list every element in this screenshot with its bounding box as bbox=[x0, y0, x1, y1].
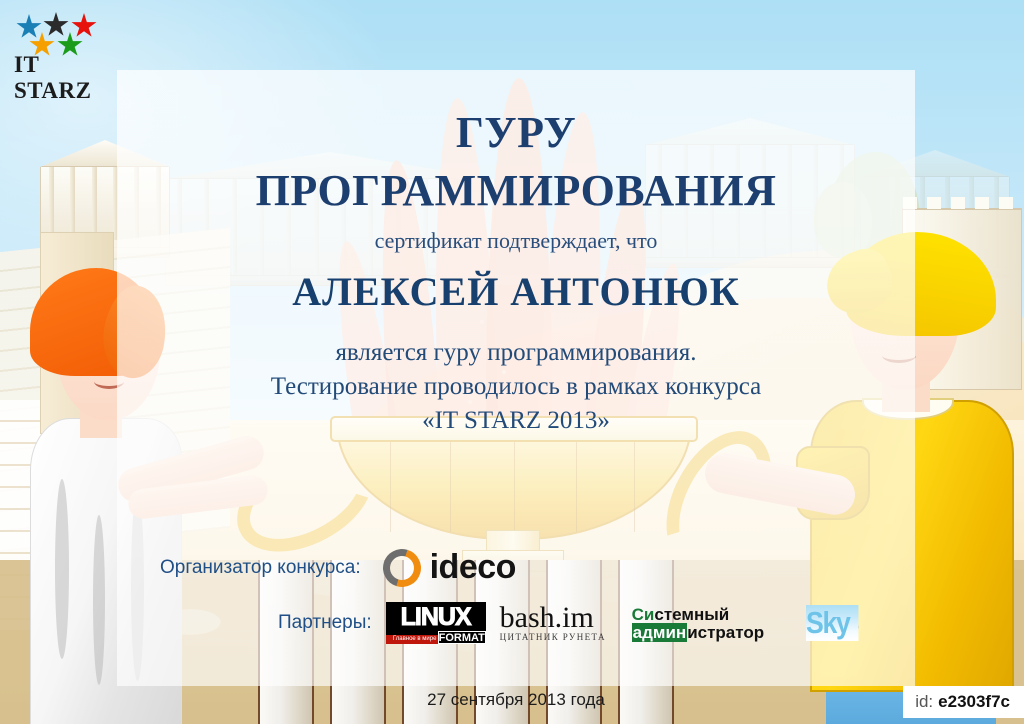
skydns-part1: Sky bbox=[806, 605, 858, 641]
recipient-name: АЛЕКСЕЙ АНТОНЮК bbox=[117, 268, 915, 315]
sysadmin-line2-b: истратор bbox=[687, 623, 764, 642]
stars-group bbox=[14, 8, 110, 52]
sysadmin-line2-a: админ bbox=[632, 623, 688, 642]
certificate-title-line2: ПРОГРАММИРОВАНИЯ bbox=[117, 162, 915, 220]
partner-logo-linux-format[interactable]: LINUX Главное в мире Linux FORMAT bbox=[386, 602, 486, 644]
certificate-date: 27 сентября 2013 года bbox=[117, 690, 915, 710]
certificate-id-label: id: bbox=[915, 692, 933, 711]
partners-row: Партнеры: LINUX Главное в мире Linux FOR… bbox=[278, 602, 867, 644]
certificate-body: является гуру программирования. Тестиров… bbox=[117, 336, 915, 438]
logo-text: IT STARZ bbox=[14, 52, 118, 104]
partners-label: Партнеры: bbox=[278, 612, 372, 634]
ideco-ring-icon bbox=[383, 549, 421, 587]
certificate-canvas: IT STARZ ГУРУ ПРОГРАММИРОВАНИЯ сертифика… bbox=[0, 0, 1024, 724]
certificate-subtitle: сертификат подтверждает, что bbox=[117, 228, 915, 254]
linux-format-main: LINUX bbox=[390, 603, 482, 632]
certificate-id-value: e2303f7c bbox=[938, 692, 1010, 711]
certificate-body-line3: «IT STARZ 2013» bbox=[117, 404, 915, 438]
certificate-body-line1: является гуру программирования. bbox=[117, 336, 915, 370]
linux-format-tagline: Главное в мире Linux bbox=[386, 635, 444, 644]
sysadmin-line1-b: стемный bbox=[654, 605, 729, 624]
star-blue-icon bbox=[16, 14, 42, 40]
sysadmin-line1-a: Си bbox=[632, 605, 655, 624]
certificate-title-line1: ГУРУ bbox=[117, 104, 915, 162]
star-red-icon bbox=[71, 13, 97, 39]
it-starz-logo[interactable]: IT STARZ bbox=[14, 8, 118, 78]
organizer-row: Организатор конкурса: ideco bbox=[160, 548, 516, 587]
organizer-label: Организатор конкурса: bbox=[160, 557, 361, 579]
bash-im-sub: ЦИТАТНИК РУНЕТА bbox=[500, 632, 618, 642]
certificate-id-badge: id:e2303f7c bbox=[903, 686, 1024, 718]
linux-format-sub: FORMAT bbox=[438, 631, 486, 644]
partner-logo-sysadmin[interactable]: Системный администратор bbox=[632, 606, 792, 641]
ideco-wordmark: ideco bbox=[430, 548, 516, 587]
certificate-title: ГУРУ ПРОГРАММИРОВАНИЯ bbox=[117, 104, 915, 220]
bash-im-main: bash.im bbox=[500, 604, 618, 632]
star-black-icon bbox=[43, 12, 69, 38]
partner-logo-skydns[interactable]: SkyDNS bbox=[806, 605, 858, 641]
partner-logo-bash-im[interactable]: bash.im ЦИТАТНИК РУНЕТА bbox=[500, 604, 618, 642]
ideco-logo[interactable]: ideco bbox=[383, 548, 516, 587]
certificate-body-line2: Тестирование проводилось в рамках конкур… bbox=[117, 370, 915, 404]
